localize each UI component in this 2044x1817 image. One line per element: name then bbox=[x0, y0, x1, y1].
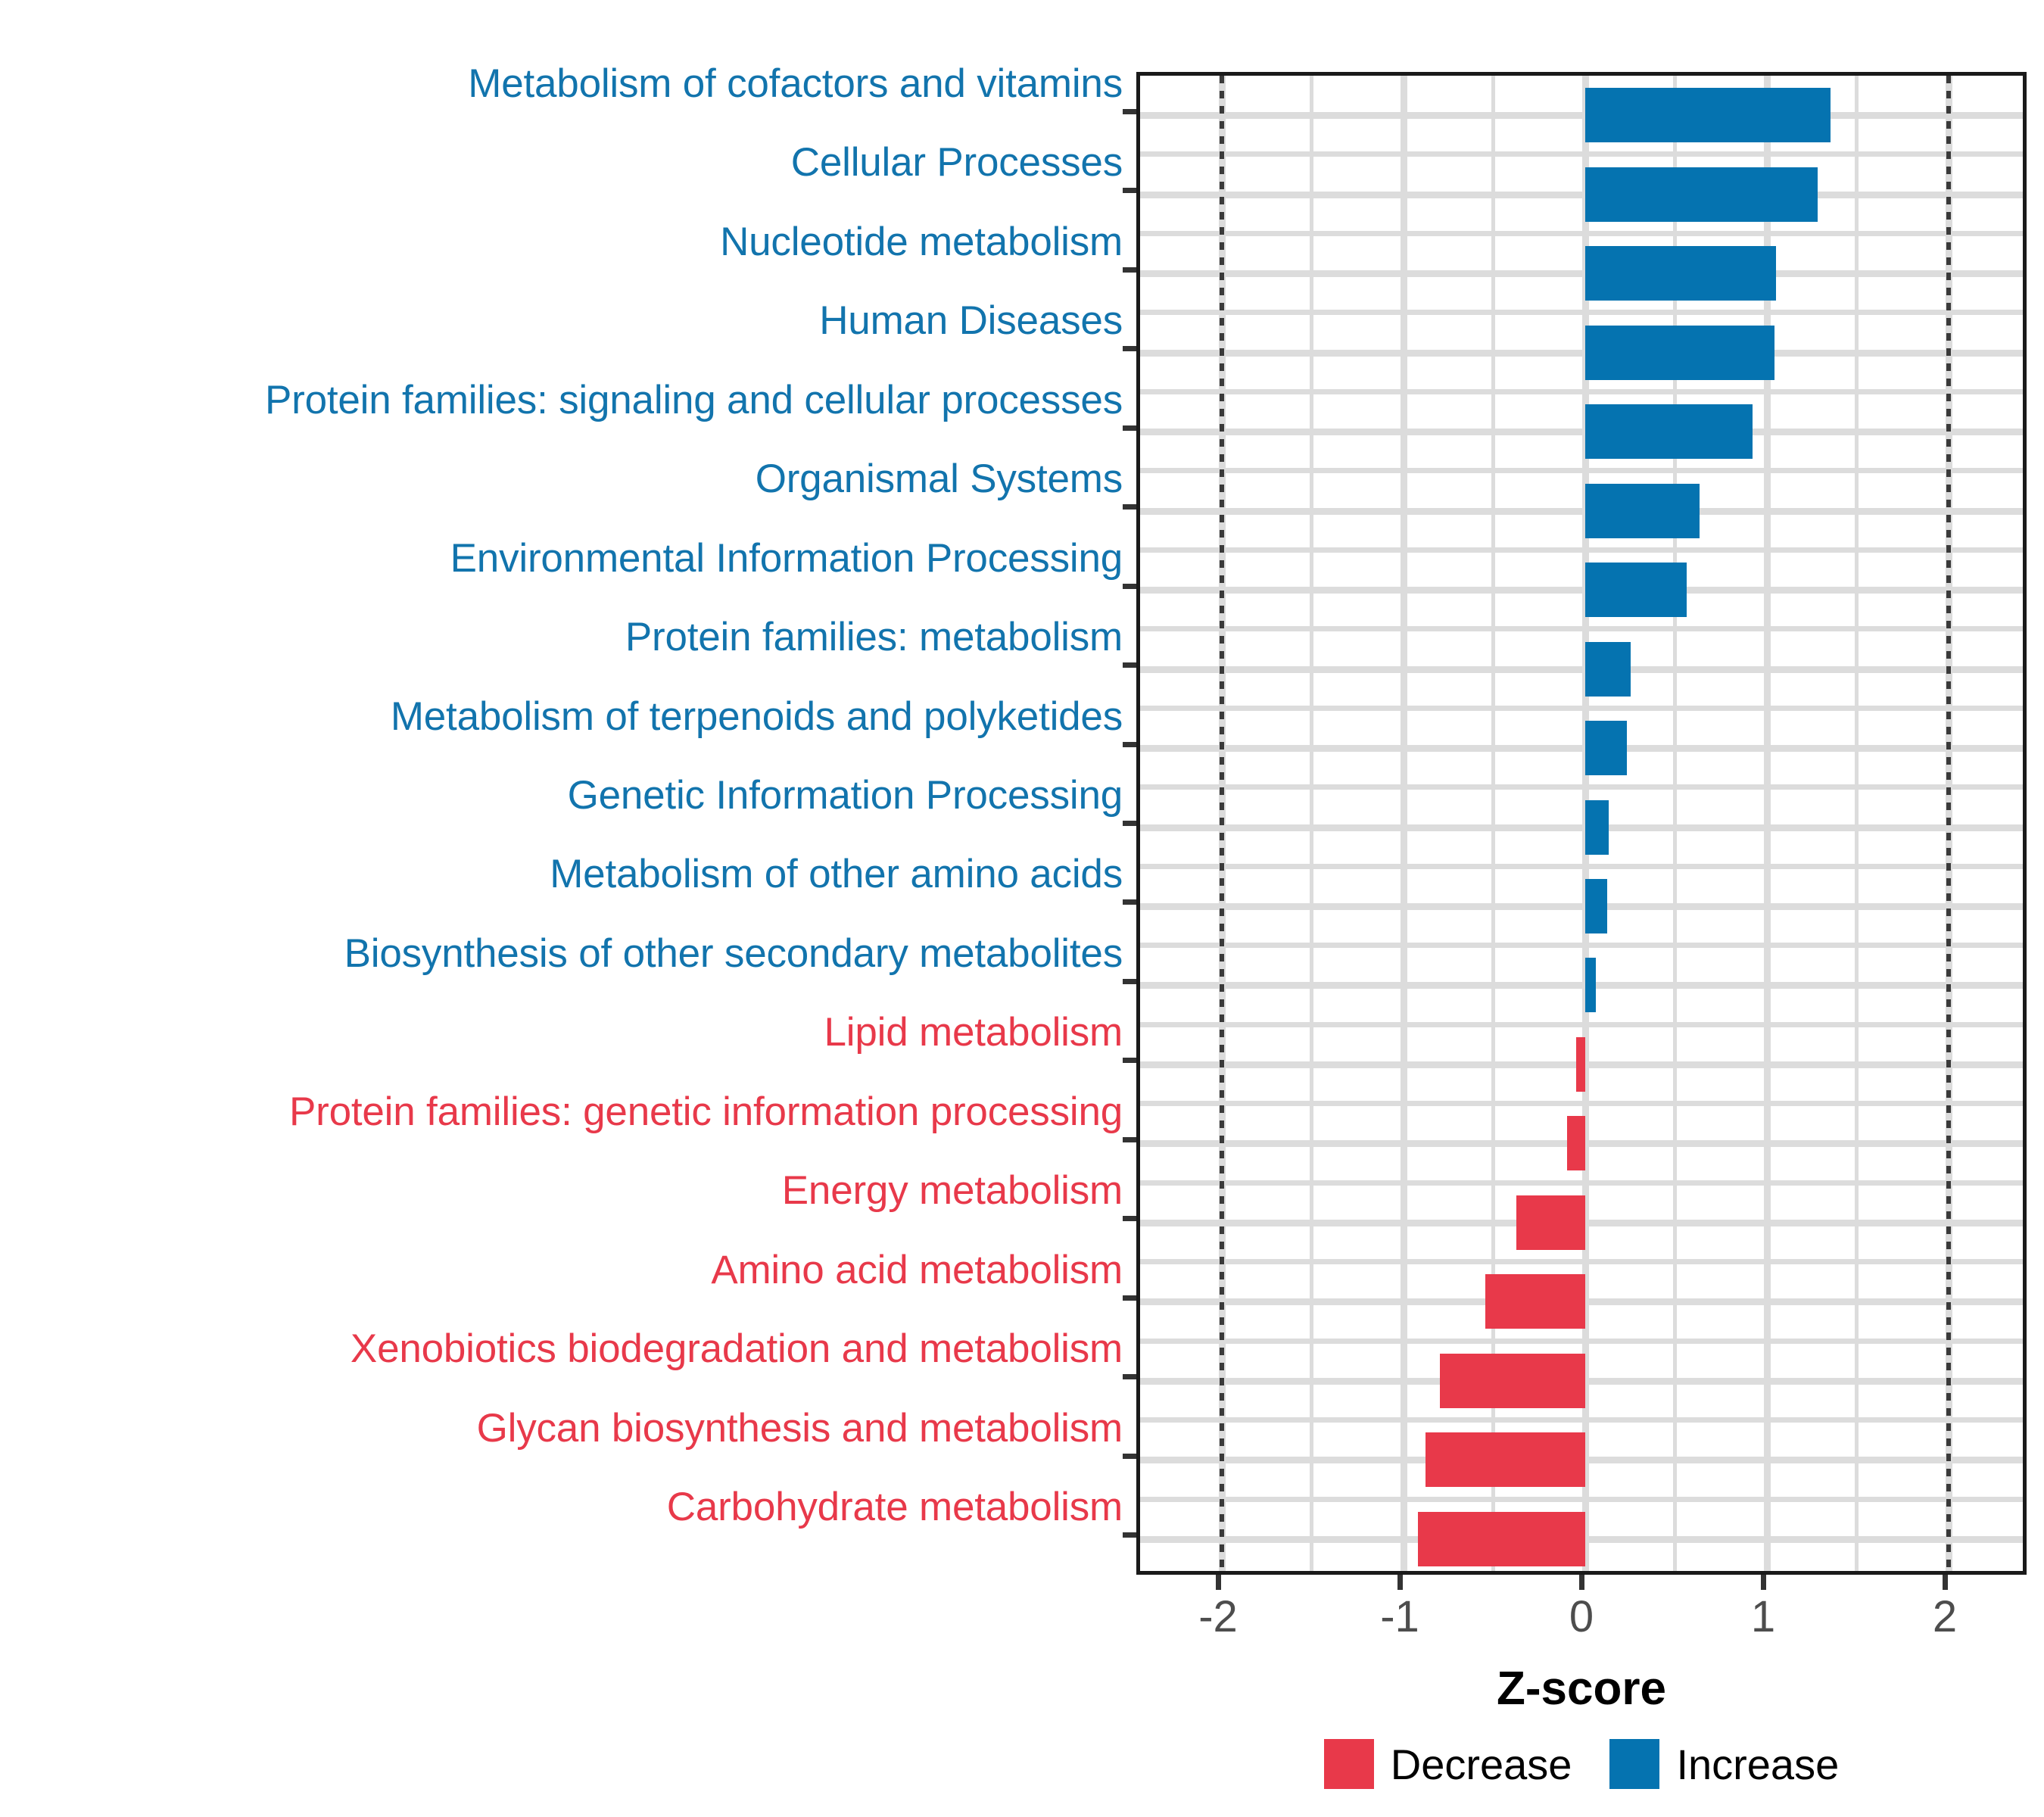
y-axis-label: Xenobiotics biodegradation and metabolis… bbox=[351, 1310, 1123, 1388]
bar bbox=[1426, 1432, 1585, 1487]
plot-panel bbox=[1136, 72, 2027, 1575]
horizontal-gridline-minor bbox=[1140, 626, 2023, 631]
y-axis-category-labels: Metabolism of cofactors and vitaminsCell… bbox=[0, 44, 1123, 1604]
bar bbox=[1585, 88, 1831, 142]
bar bbox=[1585, 326, 1774, 380]
bar bbox=[1585, 404, 1753, 459]
bar bbox=[1585, 246, 1776, 301]
horizontal-gridline-minor bbox=[1140, 389, 2023, 394]
vertical-gridline-minor bbox=[1310, 76, 1313, 1571]
y-axis-label: Carbohydrate metabolism bbox=[667, 1468, 1123, 1546]
y-axis-label: Cellular Processes bbox=[791, 123, 1123, 201]
plot-area bbox=[1140, 76, 2023, 1571]
reference-line bbox=[1946, 76, 1951, 1571]
legend-item[interactable]: Increase bbox=[1609, 1739, 1839, 1789]
y-axis-label: Metabolism of other amino acids bbox=[550, 835, 1123, 913]
horizontal-gridline-minor bbox=[1140, 468, 2023, 473]
horizontal-gridline bbox=[1140, 587, 2023, 594]
chart-legend: DecreaseIncrease bbox=[1136, 1734, 2027, 1794]
y-axis-tick bbox=[1123, 1216, 1136, 1221]
bar bbox=[1418, 1512, 1585, 1566]
y-axis-tick bbox=[1123, 1374, 1136, 1379]
x-axis-tick bbox=[1761, 1575, 1766, 1590]
y-axis-tick bbox=[1123, 899, 1136, 905]
y-axis-label: Protein families: metabolism bbox=[625, 598, 1123, 676]
y-axis-tick bbox=[1123, 1295, 1136, 1301]
bar bbox=[1585, 563, 1687, 617]
bar bbox=[1567, 1116, 1585, 1170]
horizontal-gridline-minor bbox=[1140, 1022, 2023, 1027]
bar bbox=[1576, 1037, 1585, 1092]
x-axis-title: Z-score bbox=[1136, 1662, 2027, 1716]
horizontal-gridline bbox=[1140, 429, 2023, 435]
y-axis-tick bbox=[1123, 425, 1136, 431]
bar bbox=[1516, 1195, 1585, 1250]
horizontal-gridline-minor bbox=[1140, 151, 2023, 157]
x-axis-tick-label: -1 bbox=[1380, 1591, 1419, 1642]
x-axis-tick-label: -2 bbox=[1198, 1591, 1238, 1642]
y-axis-tick bbox=[1123, 109, 1136, 114]
horizontal-gridline bbox=[1140, 903, 2023, 910]
legend-swatch-decrease bbox=[1324, 1739, 1374, 1789]
horizontal-gridline-minor bbox=[1140, 1259, 2023, 1264]
vertical-gridline bbox=[1401, 76, 1407, 1571]
y-axis-tick bbox=[1123, 504, 1136, 510]
bar bbox=[1485, 1274, 1585, 1329]
z-score-bar-chart: Metabolism of cofactors and vitaminsCell… bbox=[0, 0, 2044, 1817]
bar bbox=[1585, 879, 1607, 933]
y-axis-tick bbox=[1123, 584, 1136, 589]
legend-swatch-increase bbox=[1609, 1739, 1659, 1789]
bar bbox=[1440, 1354, 1585, 1408]
x-axis-tick bbox=[1943, 1575, 1948, 1590]
y-axis-label: Biosynthesis of other secondary metaboli… bbox=[344, 915, 1123, 993]
legend-label: Increase bbox=[1676, 1740, 1839, 1789]
bar bbox=[1585, 721, 1627, 775]
horizontal-gridline-minor bbox=[1140, 310, 2023, 315]
horizontal-gridline bbox=[1140, 508, 2023, 515]
horizontal-gridline-minor bbox=[1140, 1417, 2023, 1423]
y-axis-tick bbox=[1123, 742, 1136, 747]
vertical-gridline-minor bbox=[1855, 76, 1859, 1571]
y-axis-tick bbox=[1123, 979, 1136, 984]
y-axis-label: Metabolism of terpenoids and polyketides bbox=[391, 678, 1123, 756]
bar bbox=[1585, 642, 1631, 697]
horizontal-gridline-minor bbox=[1140, 231, 2023, 236]
horizontal-gridline bbox=[1140, 745, 2023, 752]
y-axis-label: Nucleotide metabolism bbox=[720, 203, 1123, 281]
y-axis-label: Human Diseases bbox=[819, 282, 1123, 360]
y-axis-label: Protein families: genetic information pr… bbox=[289, 1073, 1123, 1151]
x-axis-tick bbox=[1579, 1575, 1584, 1590]
y-axis-tick bbox=[1123, 1532, 1136, 1538]
horizontal-gridline bbox=[1140, 350, 2023, 357]
y-axis-tick bbox=[1123, 821, 1136, 826]
y-axis-tick bbox=[1123, 1454, 1136, 1459]
y-axis-label: Amino acid metabolism bbox=[711, 1231, 1123, 1309]
horizontal-gridline-minor bbox=[1140, 1339, 2023, 1344]
x-axis-tick bbox=[1397, 1575, 1403, 1590]
horizontal-gridline-minor bbox=[1140, 547, 2023, 553]
x-axis: -2-1012 bbox=[1136, 1575, 2027, 1673]
bar bbox=[1585, 800, 1609, 855]
y-axis-label: Glycan biosynthesis and metabolism bbox=[477, 1389, 1123, 1467]
legend-item[interactable]: Decrease bbox=[1324, 1739, 1572, 1789]
x-axis-tick-label: 2 bbox=[1933, 1591, 1957, 1642]
horizontal-gridline bbox=[1140, 666, 2023, 673]
x-axis-tick-label: 0 bbox=[1569, 1591, 1594, 1642]
bar bbox=[1585, 167, 1818, 222]
x-axis-tick bbox=[1216, 1575, 1221, 1590]
y-axis-label: Energy metabolism bbox=[782, 1152, 1123, 1230]
horizontal-gridline-minor bbox=[1140, 706, 2023, 711]
horizontal-gridline-minor bbox=[1140, 943, 2023, 948]
horizontal-gridline-minor bbox=[1140, 784, 2023, 790]
y-axis-tick bbox=[1123, 1137, 1136, 1142]
legend-label: Decrease bbox=[1391, 1740, 1572, 1789]
horizontal-gridline-minor bbox=[1140, 864, 2023, 869]
vertical-gridline-minor bbox=[1491, 76, 1495, 1571]
horizontal-gridline bbox=[1140, 270, 2023, 277]
y-axis-label: Metabolism of cofactors and vitamins bbox=[468, 45, 1123, 123]
horizontal-gridline-minor bbox=[1140, 1497, 2023, 1502]
y-axis-tick bbox=[1123, 267, 1136, 273]
y-axis-tick bbox=[1123, 346, 1136, 351]
bar bbox=[1585, 958, 1596, 1012]
horizontal-gridline bbox=[1140, 824, 2023, 831]
horizontal-gridline bbox=[1140, 982, 2023, 989]
horizontal-gridline-minor bbox=[1140, 1180, 2023, 1186]
horizontal-gridline bbox=[1140, 192, 2023, 198]
y-axis-tick bbox=[1123, 1058, 1136, 1063]
y-axis-label: Environmental Information Processing bbox=[450, 519, 1123, 597]
horizontal-gridline bbox=[1140, 112, 2023, 119]
y-axis-label: Organismal Systems bbox=[756, 440, 1123, 518]
y-axis-tick bbox=[1123, 188, 1136, 193]
bar bbox=[1585, 484, 1700, 538]
y-axis-tick bbox=[1123, 662, 1136, 668]
y-axis-label: Lipid metabolism bbox=[824, 993, 1123, 1071]
reference-line bbox=[1220, 76, 1224, 1571]
y-axis-label: Genetic Information Processing bbox=[568, 756, 1123, 834]
x-axis-tick-label: 1 bbox=[1751, 1591, 1775, 1642]
horizontal-gridline-minor bbox=[1140, 1101, 2023, 1106]
y-axis-label: Protein families: signaling and cellular… bbox=[265, 361, 1123, 439]
